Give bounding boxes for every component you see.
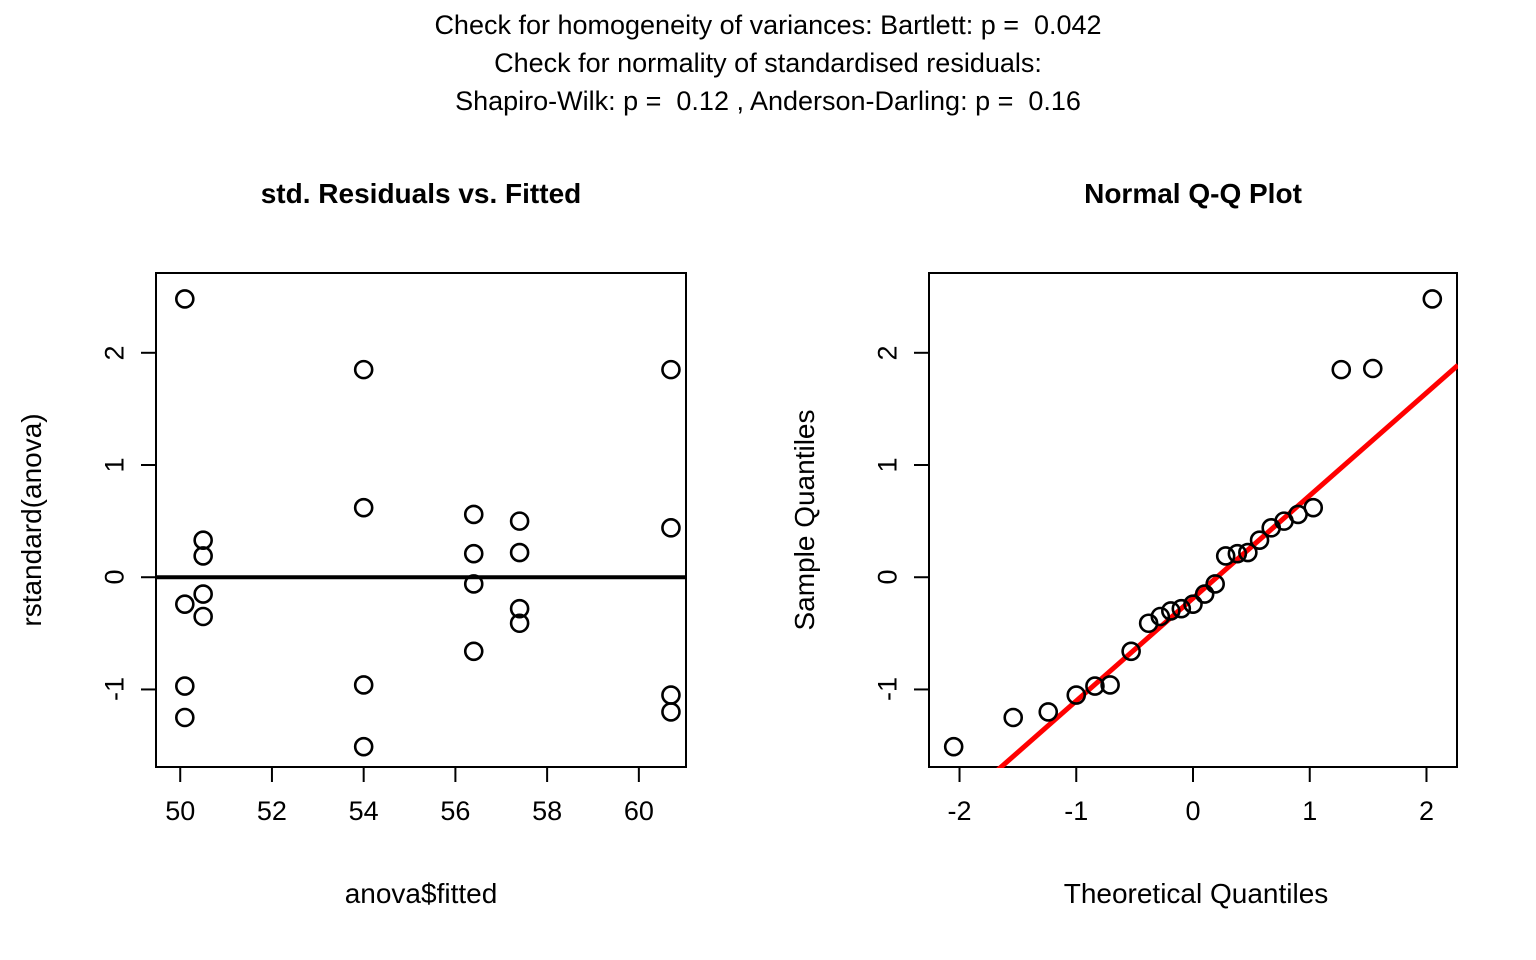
residual-point-series [176, 290, 679, 755]
left-x-tick-label: 56 [440, 796, 470, 827]
right-y-axis-title: Sample Quantiles [789, 409, 821, 630]
left-x-tick-label: 52 [257, 796, 287, 827]
plot-page: Check for homogeneity of variances: Bart… [0, 0, 1536, 960]
right-x-tick-label: 1 [1302, 796, 1317, 827]
qq-reference-line [991, 365, 1458, 776]
quantile-point-series [945, 290, 1441, 755]
left-y-axis-title: rstandard(anova) [16, 413, 48, 626]
left-x-tick-label: 54 [349, 796, 379, 827]
left-y-tick-label: 1 [100, 457, 131, 472]
right-y-tick-label: 2 [873, 345, 904, 360]
right-x-tick-label: 0 [1185, 796, 1200, 827]
left-y-tick-label: -1 [100, 677, 131, 701]
right-y-tick-label: 0 [873, 570, 904, 585]
left-x-tick-label: 60 [624, 796, 654, 827]
right-x-axis-title: Theoretical Quantiles [1064, 878, 1329, 910]
left-x-tick-label: 50 [165, 796, 195, 827]
right-x-tick-label: -2 [948, 796, 972, 827]
right-x-tick-label: -1 [1064, 796, 1088, 827]
right-x-tick-label: 2 [1419, 796, 1434, 827]
right-y-tick-label: -1 [873, 677, 904, 701]
right-axis-ticks [914, 353, 1426, 782]
left-x-tick-label: 58 [532, 796, 562, 827]
left-y-tick-label: 0 [100, 570, 131, 585]
left-y-tick-label: 2 [100, 345, 131, 360]
left-x-axis-title: anova$fitted [345, 878, 498, 910]
left-axis-ticks [141, 353, 639, 782]
right-y-tick-label: 1 [873, 457, 904, 472]
